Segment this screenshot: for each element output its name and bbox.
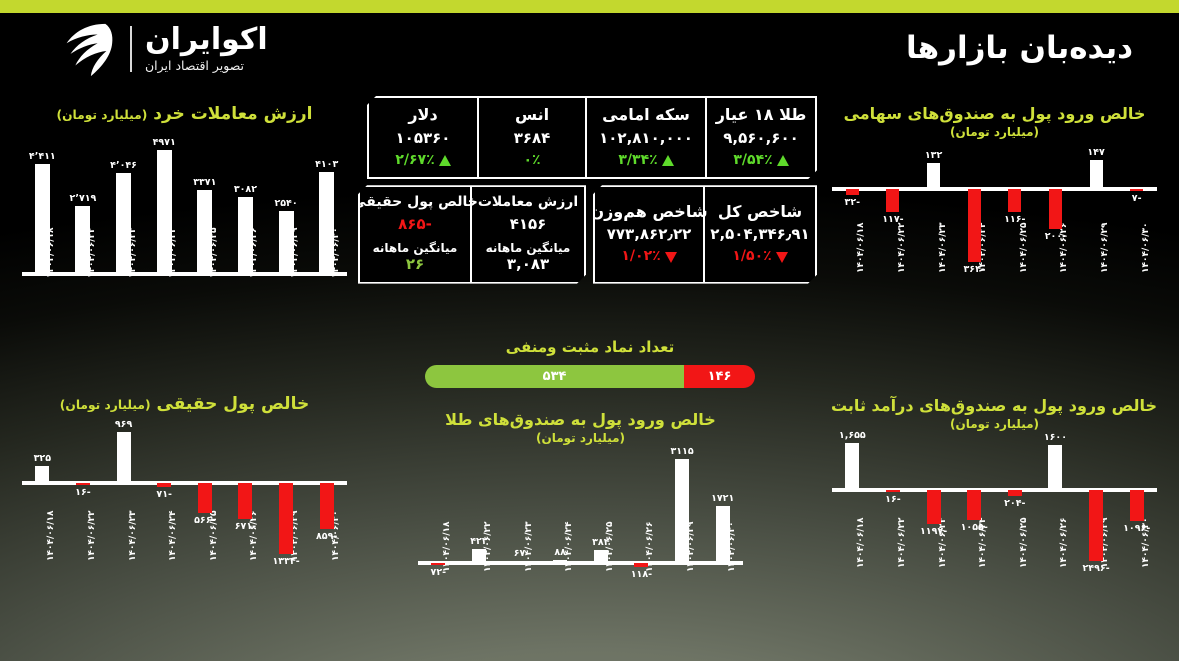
x-axis-label: ۱۴۰۴/۰۶/۱۸ (46, 511, 56, 562)
x-axis-labels: ۱۴۰۴/۰۶/۱۸۱۴۰۴/۰۶/۲۲۱۴۰۴/۰۶/۲۳۱۴۰۴/۰۶/۲۴… (418, 568, 743, 638)
bar[interactable] (967, 490, 981, 520)
bar-value-label: -۱۳۳۴ (256, 556, 316, 567)
quote-change: ۲/۶۷٪ (395, 151, 450, 171)
bar-value-label: -۱۶ (53, 487, 113, 498)
bar[interactable] (675, 459, 689, 563)
x-axis-label: ۱۴۰۴/۰۶/۱۸ (856, 517, 866, 568)
bar[interactable] (35, 164, 50, 274)
quote-value: ۱۰۲,۸۱۰,۰۰۰ (599, 128, 693, 149)
symbol-count-bar: ۱۴۶ ۵۳۴ (425, 365, 755, 388)
axis-zero-line (22, 272, 347, 276)
quotes-group-indices: شاخص کل۲,۵۰۴,۳۴۶٫۹۱۱/۵۰٪شاخص هم‌وزن۷۷۳,۸… (593, 185, 817, 283)
x-axis-label: ۱۴۰۴/۰۶/۲۲ (897, 517, 907, 568)
logo-divider (130, 26, 132, 72)
bar-value-label: ۴٬۴۱۱ (12, 151, 72, 162)
quotes-panel: طلا ۱۸ عیار۹,۵۶۰,۶۰۰۳/۵۴٪سکه امامی۱۰۲,۸۱… (345, 96, 817, 284)
quotes-group-market-stats: ارزش معاملات۴۱۵۶میانگین ماهانه۳,۰۸۳خالص … (358, 185, 586, 283)
bar[interactable] (76, 483, 90, 485)
bar-value-label: -۸۵۹ (297, 531, 357, 542)
x-axis-labels: ۱۴۰۴/۰۶/۱۸۱۴۰۴/۰۶/۲۲۱۴۰۴/۰۶/۲۳۱۴۰۴/۰۶/۲۴… (832, 269, 1157, 329)
axis-zero-line (418, 561, 743, 565)
x-axis-label: ۱۴۰۴/۰۶/۲۲ (897, 222, 907, 273)
chart-gold-funds-net-inflow: خالص ورود پول به صندوق‌های طلا (میلیارد … (418, 410, 743, 638)
bar-value-label: ۳۱۱۵ (652, 446, 712, 457)
bar-value-label: ۲۵۴۰ (256, 198, 316, 209)
quote-name: شاخص کل (718, 201, 802, 223)
bar-value-label: ۴۲۲ (449, 536, 509, 547)
bar[interactable] (1130, 490, 1144, 521)
quote-value: ۳۶۸۴ (514, 128, 551, 149)
bar-value-label: -۳۲ (822, 197, 882, 208)
quotes-row-prices: طلا ۱۸ عیار۹,۵۶۰,۶۰۰۳/۵۴٪سکه امامی۱۰۲,۸۱… (345, 96, 817, 179)
bar[interactable] (594, 550, 608, 563)
chart-title-text: ارزش معاملات خرد (153, 104, 312, 124)
stat-sub-value: ۲۶ (406, 255, 424, 275)
bar[interactable] (157, 483, 171, 487)
bar[interactable] (197, 190, 212, 274)
quote-change-text: ۱/۵۰٪ (732, 247, 771, 267)
bar-value-label: -۱۱۶ (985, 214, 1045, 225)
bar-value-label: -۲۰۰ (1025, 231, 1085, 242)
quote-change-text: ۳/۳۴٪ (618, 151, 657, 171)
quote-cell[interactable]: دلار۱۰۵۳۶۰۲/۶۷٪ (369, 98, 479, 177)
chart-title-text: خالص ورود پول به صندوق‌های سهامی (844, 104, 1146, 123)
bar[interactable] (1049, 189, 1062, 229)
quote-cell[interactable]: طلا ۱۸ عیار۹,۵۶۰,۶۰۰۳/۵۴٪ (707, 98, 815, 177)
arrow-up-icon (777, 155, 789, 166)
bar-value-label: ۳۲۵ (12, 453, 72, 464)
arrow-down-icon (776, 252, 788, 263)
quote-change: ۳/۳۴٪ (618, 151, 673, 171)
chart-title: خالص ورود پول به صندوق‌های سهامی (832, 104, 1157, 124)
bar[interactable] (927, 163, 940, 189)
quote-change-text: ۰٪ (523, 151, 540, 171)
bar[interactable] (35, 466, 49, 483)
quote-value: ۷۷۳,۸۶۲٫۲۲ (607, 224, 692, 245)
chart-title-text: خالص ورود پول به صندوق‌های درآمد ثابت (831, 396, 1157, 415)
stat-sub-value: ۳,۰۸۳ (507, 255, 549, 275)
logo-title: اکوایران (145, 25, 268, 55)
axis-zero-line (22, 481, 347, 485)
x-axis-label: ۱۴۰۴/۰۶/۲۳ (128, 511, 138, 562)
bar[interactable] (968, 189, 981, 262)
bar[interactable] (320, 483, 334, 529)
quote-change-text: ۳/۵۴٪ (733, 151, 772, 171)
bar[interactable] (117, 432, 131, 483)
x-axis-label: ۱۴۰۴/۰۶/۱۸ (856, 222, 866, 273)
x-axis-labels: ۱۴۰۴/۰۶/۱۸۱۴۰۴/۰۶/۲۲۱۴۰۴/۰۶/۲۳۱۴۰۴/۰۶/۲۴… (22, 557, 347, 627)
bar-value-label: ۳۸۴ (571, 537, 631, 548)
bar-value-label: -۷۱ (134, 489, 194, 500)
chart-real-money-net: خالص پول حقیقی (میلیارد تومان) ۳۲۵-۱۶۹۶۹… (22, 394, 347, 627)
bar-value-label: ۹۶۹ (94, 419, 154, 430)
bar[interactable] (279, 483, 293, 554)
bar[interactable] (431, 563, 445, 565)
stat-value: ۴۱۵۶ (510, 214, 547, 235)
bar[interactable] (319, 172, 334, 275)
chart-unit-text: (میلیارد تومان) (832, 417, 1157, 431)
stat-cell[interactable]: خالص پول حقیقی-۸۶۵میانگین ماهانه۲۶ (360, 187, 472, 281)
dashboard-root: اکوایران تصویر اقتصاد ایران دیده‌بان باز… (0, 0, 1179, 661)
top-accent-bar (0, 0, 1179, 13)
bar-value-label: -۲۴۹۶ (1066, 563, 1126, 574)
chart-unit-text: (میلیارد تومان) (60, 398, 151, 412)
quote-change: ۱/۵۰٪ (732, 247, 787, 267)
bar[interactable] (1130, 189, 1143, 191)
quote-change: ۱/۰۲٪ (621, 247, 676, 267)
bar-value-label: ۸۸ (530, 547, 590, 558)
bar-value-label: ۱,۶۵۵ (822, 430, 882, 441)
arrow-up-icon (439, 155, 451, 166)
stat-cell[interactable]: ارزش معاملات۴۱۵۶میانگین ماهانه۳,۰۸۳ (472, 187, 584, 281)
symbol-count-panel: تعداد نماد مثبت ومنفی ۱۴۶ ۵۳۴ (400, 338, 780, 388)
bar-value-label: -۱۱۷ (863, 214, 923, 225)
bar[interactable] (1008, 490, 1022, 496)
bar[interactable] (116, 173, 131, 274)
chart-title: ارزش معاملات خرد (میلیارد تومان) (22, 104, 347, 125)
quote-change-text: ۲/۶۷٪ (395, 151, 434, 171)
bar[interactable] (472, 549, 486, 563)
quote-cell[interactable]: شاخص کل۲,۵۰۴,۳۴۶٫۹۱۱/۵۰٪ (705, 187, 815, 281)
quote-cell[interactable]: سکه امامی۱۰۲,۸۱۰,۰۰۰۳/۳۴٪ (587, 98, 707, 177)
x-axis-label: ۱۴۰۴/۰۶/۲۲ (87, 511, 97, 562)
arrow-down-icon (665, 252, 677, 263)
bar-value-label: ۱۴۷ (1066, 147, 1126, 158)
brand-logo[interactable]: اکوایران تصویر اقتصاد ایران (55, 18, 268, 80)
x-axis-label: ۱۴۰۴/۰۶/۲۵ (1019, 517, 1029, 568)
quote-cell[interactable]: انس۳۶۸۴۰٪ (479, 98, 587, 177)
chart-retail-trade-value: ارزش معاملات خرد (میلیارد تومان) ۴٬۴۱۱۲٬… (22, 104, 347, 334)
quote-value: ۹,۵۶۰,۶۰۰ (723, 128, 798, 149)
bar[interactable] (1090, 160, 1103, 189)
bar[interactable] (513, 561, 527, 563)
stat-sub-label: میانگین ماهانه (373, 241, 458, 255)
x-axis-label: ۱۴۰۴/۰۶/۲۶ (1059, 517, 1069, 568)
stat-sub-label: میانگین ماهانه (486, 241, 571, 255)
chart-title: خالص ورود پول به صندوق‌های طلا (418, 410, 743, 430)
quote-value: ۱۰۵۳۶۰ (396, 128, 451, 149)
symbol-count-title: تعداد نماد مثبت ومنفی (400, 338, 780, 357)
bar-value-label: -۶۷۱ (215, 521, 275, 532)
bar[interactable] (886, 490, 900, 492)
bar-value-label: ۴۱۰۳ (297, 159, 357, 170)
chart-equity-funds-net-inflow: خالص ورود پول به صندوق‌های سهامی (میلیار… (832, 104, 1157, 329)
quote-name: دلار (408, 104, 437, 126)
bar-value-label: -۷ (1107, 193, 1167, 204)
logo-text-group: اکوایران تصویر اقتصاد ایران (145, 25, 268, 73)
bar-value-label: ۲٬۷۱۹ (53, 193, 113, 204)
stat-value: -۸۶۵ (398, 214, 432, 235)
bar[interactable] (238, 483, 252, 519)
chart-title: خالص پول حقیقی (میلیارد تومان) (22, 394, 347, 415)
quote-name: طلا ۱۸ عیار (716, 104, 807, 126)
x-axis-label: ۱۴۰۴/۰۶/۲۹ (1100, 222, 1110, 273)
quote-name: شاخص هم‌وزن (590, 201, 707, 223)
axis-zero-line (832, 488, 1157, 492)
quote-change: ۰٪ (523, 151, 540, 171)
arrow-up-icon (662, 155, 674, 166)
bar-value-label: -۷۲ (408, 567, 468, 578)
chart-title: خالص ورود پول به صندوق‌های درآمد ثابت (832, 396, 1157, 416)
bar[interactable] (238, 197, 253, 274)
chart-unit-text: (میلیارد تومان) (832, 125, 1157, 139)
bar[interactable] (1048, 445, 1062, 490)
chart-unit-text: (میلیارد تومان) (57, 108, 148, 122)
quote-change: ۳/۵۴٪ (733, 151, 788, 171)
stat-name: خالص پول حقیقی (352, 193, 478, 212)
bar-value-label: -۱۶ (863, 494, 923, 505)
bar[interactable] (198, 483, 212, 513)
chart-title-text: خالص ورود پول به صندوق‌های طلا (445, 410, 716, 429)
chart-unit-text: (میلیارد تومان) (418, 431, 743, 445)
bar[interactable] (279, 211, 294, 275)
plot-area: ۳۲۵-۱۶۹۶۹-۷۱-۵۶۶-۶۷۱-۱۳۳۴-۸۵۹ (22, 427, 347, 557)
bar-value-label: ۱۳۲ (904, 150, 964, 161)
quotes-group-commodities: طلا ۱۸ عیار۹,۵۶۰,۶۰۰۳/۵۴٪سکه امامی۱۰۲,۸۱… (367, 96, 817, 179)
bar[interactable] (845, 443, 859, 490)
bar-value-label: ۴۹۷۱ (134, 137, 194, 148)
bar-value-label: ۳۰۸۲ (215, 184, 275, 195)
bar-value-label: -۱۰۵۵ (944, 522, 1004, 533)
chart-fixed-income-funds-net-inflow: خالص ورود پول به صندوق‌های درآمد ثابت (م… (832, 396, 1157, 634)
x-axis-label: ۱۴۰۴/۰۶/۳۰ (1141, 222, 1151, 273)
page-title: دیده‌بان بازارها (906, 30, 1133, 66)
bar-value-label: ۱۶۰۰ (1025, 432, 1085, 443)
quote-name: انس (515, 104, 549, 126)
chart-title-text: خالص پول حقیقی (157, 394, 310, 414)
eco-iran-logo-icon (55, 18, 117, 80)
bar-value-label: -۱۰۹۶ (1107, 523, 1167, 534)
bar[interactable] (927, 490, 941, 524)
quote-value: ۲,۵۰۴,۳۴۶٫۹۱ (710, 224, 809, 245)
bar-value-label: -۲۰۴ (985, 498, 1045, 509)
quote-cell[interactable]: شاخص هم‌وزن۷۷۳,۸۶۲٫۲۲۱/۰۲٪ (595, 187, 705, 281)
symbol-count-negative-segment: ۱۴۶ (684, 365, 755, 388)
bar[interactable] (634, 563, 648, 567)
bar[interactable] (157, 150, 172, 274)
bar[interactable] (716, 506, 730, 563)
bar-value-label: -۱۱۸ (611, 569, 671, 580)
quote-name: سکه امامی (602, 104, 690, 126)
bar[interactable] (553, 560, 567, 563)
quote-change-text: ۱/۰۲٪ (621, 247, 660, 267)
bar[interactable] (886, 189, 899, 212)
bar[interactable] (75, 206, 90, 274)
x-axis-labels: ۱۴۰۴/۰۶/۱۸۱۴۰۴/۰۶/۲۲۱۴۰۴/۰۶/۲۳۱۴۰۴/۰۶/۲۴… (832, 564, 1157, 634)
quotes-row-indices: شاخص کل۲,۵۰۴,۳۴۶٫۹۱۱/۵۰٪شاخص هم‌وزن۷۷۳,۸… (345, 185, 817, 283)
bar[interactable] (846, 189, 859, 195)
bar-value-label: -۳۶۴ (944, 264, 1004, 275)
stat-name: ارزش معاملات (478, 193, 578, 212)
bar[interactable] (1008, 189, 1021, 212)
logo-subtitle: تصویر اقتصاد ایران (145, 60, 244, 73)
bar-value-label: ۱۷۲۱ (693, 493, 753, 504)
bar-value-label: ۴٬۰۴۶ (94, 160, 154, 171)
x-axis-labels: ۱۴۰۴/۰۶/۱۸۱۴۰۴/۰۶/۲۲۱۴۰۴/۰۶/۲۳۱۴۰۴/۰۶/۲۴… (22, 274, 347, 334)
axis-zero-line (832, 187, 1157, 191)
bar[interactable] (1089, 490, 1103, 561)
symbol-count-positive-segment: ۵۳۴ (425, 365, 684, 388)
